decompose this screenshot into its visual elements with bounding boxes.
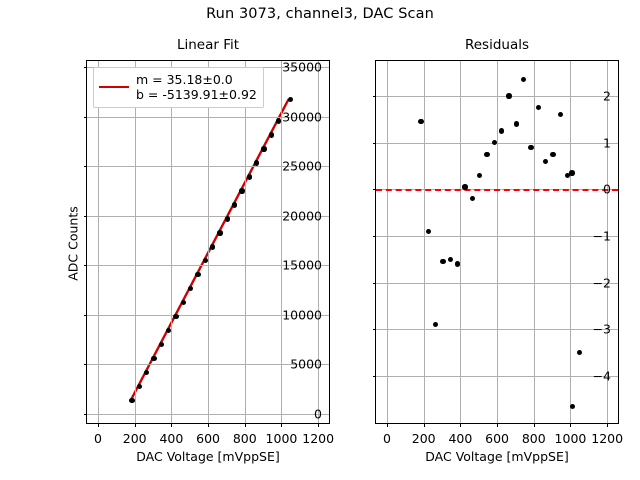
y-axis-tick bbox=[84, 315, 88, 316]
x-axis-tick-label: 200 bbox=[123, 431, 147, 446]
x-axis-tick bbox=[318, 423, 319, 427]
y-axis-tick-label: 25000 bbox=[282, 159, 322, 174]
x-axis-tick-label: 1000 bbox=[555, 431, 587, 446]
y-axis-tick-label: −1 bbox=[593, 229, 611, 244]
data-point-marker bbox=[269, 132, 274, 137]
gridline-horizontal bbox=[376, 236, 618, 237]
x-axis-tick bbox=[208, 423, 209, 427]
gridline-horizontal bbox=[87, 414, 329, 415]
x-axis-tick bbox=[281, 423, 282, 427]
y-axis-tick bbox=[84, 414, 88, 415]
data-point-marker bbox=[577, 350, 582, 355]
data-point-marker bbox=[210, 244, 215, 249]
data-point-marker bbox=[225, 216, 230, 221]
x-axis-tick bbox=[245, 423, 246, 427]
axes-residuals: Residuals DAC Voltage [mVppSE] 020040060… bbox=[375, 60, 619, 424]
x-axis-tick bbox=[497, 423, 498, 427]
data-point-marker bbox=[455, 261, 460, 266]
y-axis-tick-label: 0 bbox=[314, 407, 322, 422]
ylabel-linear-fit: ADC Counts bbox=[66, 62, 81, 426]
x-axis-tick bbox=[387, 423, 388, 427]
x-axis-tick-label: 200 bbox=[412, 431, 436, 446]
x-axis-tick bbox=[570, 423, 571, 427]
y-axis-tick bbox=[373, 189, 377, 190]
y-axis-tick bbox=[84, 216, 88, 217]
data-point-marker bbox=[418, 119, 423, 124]
data-point-marker bbox=[151, 356, 156, 361]
gridline-vertical bbox=[135, 61, 136, 423]
y-axis-tick-label: 30000 bbox=[282, 109, 322, 124]
data-point-marker bbox=[433, 322, 438, 327]
x-axis-tick-label: 800 bbox=[233, 431, 257, 446]
figure-canvas: Run 3073, channel3, DAC Scan Linear Fit … bbox=[0, 0, 640, 480]
data-point-marker bbox=[514, 121, 519, 126]
y-axis-tick bbox=[373, 236, 377, 237]
data-point-marker bbox=[440, 259, 445, 264]
data-point-marker bbox=[470, 196, 475, 201]
y-axis-tick-label: 5000 bbox=[290, 357, 322, 372]
data-point-marker bbox=[528, 145, 533, 150]
data-point-marker bbox=[448, 257, 453, 262]
data-point-marker bbox=[558, 112, 563, 117]
gridline-vertical bbox=[534, 61, 535, 423]
xlabel-residuals: DAC Voltage [mVppSE] bbox=[376, 449, 618, 464]
data-point-marker bbox=[506, 93, 511, 98]
y-axis-tick bbox=[84, 117, 88, 118]
figure-suptitle: Run 3073, channel3, DAC Scan bbox=[0, 6, 640, 22]
data-point-marker bbox=[426, 229, 431, 234]
data-point-marker bbox=[570, 404, 575, 409]
x-axis-tick bbox=[460, 423, 461, 427]
x-axis-tick bbox=[424, 423, 425, 427]
gridline-horizontal bbox=[376, 376, 618, 377]
data-point-marker bbox=[217, 230, 222, 235]
y-axis-tick bbox=[84, 166, 88, 167]
x-axis-tick-label: 800 bbox=[522, 431, 546, 446]
data-point-marker bbox=[543, 159, 548, 164]
data-point-marker bbox=[239, 188, 244, 193]
gridline-horizontal bbox=[376, 283, 618, 284]
y-axis-tick-label: 35000 bbox=[282, 59, 322, 74]
y-axis-tick bbox=[84, 265, 88, 266]
data-point-marker bbox=[254, 160, 259, 165]
gridline-vertical bbox=[424, 61, 425, 423]
x-axis-tick bbox=[135, 423, 136, 427]
legend-text-group: m = 35.18±0.0 b = -5139.91±0.92 bbox=[136, 72, 257, 103]
x-axis-tick-label: 600 bbox=[485, 431, 509, 446]
data-point-marker bbox=[484, 152, 489, 157]
y-axis-tick-label: −2 bbox=[593, 275, 611, 290]
x-axis-tick-label: 600 bbox=[196, 431, 220, 446]
y-axis-tick-label: 15000 bbox=[282, 258, 322, 273]
gridline-vertical bbox=[208, 61, 209, 423]
y-axis-tick bbox=[84, 364, 88, 365]
subplot-title-residuals: Residuals bbox=[376, 37, 618, 53]
gridline-vertical bbox=[171, 61, 172, 423]
data-point-marker bbox=[536, 105, 541, 110]
y-axis-tick-label: −4 bbox=[593, 369, 611, 384]
x-axis-tick bbox=[98, 423, 99, 427]
data-point-marker bbox=[288, 97, 293, 102]
legend-intercept-label: b = -5139.91±0.92 bbox=[136, 87, 257, 102]
subplot-title-linear-fit: Linear Fit bbox=[87, 37, 329, 53]
x-axis-tick-label: 400 bbox=[159, 431, 183, 446]
y-axis-tick-label: 2 bbox=[603, 89, 611, 104]
y-axis-tick bbox=[373, 96, 377, 97]
y-axis-tick bbox=[84, 67, 88, 68]
x-axis-tick-label: 1200 bbox=[591, 431, 623, 446]
gridline-vertical bbox=[98, 61, 99, 423]
y-axis-tick bbox=[373, 329, 377, 330]
y-axis-tick bbox=[373, 376, 377, 377]
gridline-horizontal bbox=[376, 329, 618, 330]
x-axis-tick bbox=[607, 423, 608, 427]
gridline-vertical bbox=[245, 61, 246, 423]
x-axis-tick-label: 0 bbox=[383, 431, 391, 446]
data-point-marker bbox=[550, 152, 555, 157]
gridline-vertical bbox=[460, 61, 461, 423]
x-axis-tick-label: 1000 bbox=[266, 431, 298, 446]
data-point-marker bbox=[232, 202, 237, 207]
gridline-vertical bbox=[497, 61, 498, 423]
data-point-marker bbox=[477, 173, 482, 178]
y-axis-tick-label: 20000 bbox=[282, 208, 322, 223]
legend-box: m = 35.18±0.0 b = -5139.91±0.92 bbox=[93, 67, 264, 108]
y-axis-tick-label: −3 bbox=[593, 322, 611, 337]
plot-area-residuals bbox=[376, 61, 618, 423]
data-point-marker bbox=[499, 128, 504, 133]
data-point-marker bbox=[261, 146, 266, 151]
axes-linear-fit: Linear Fit m = 35.18±0.0 b = -5139.91±0.… bbox=[86, 60, 330, 424]
y-axis-tick-label: 10000 bbox=[282, 307, 322, 322]
x-axis-tick bbox=[534, 423, 535, 427]
y-axis-tick-label: 1 bbox=[603, 135, 611, 150]
x-axis-tick bbox=[171, 423, 172, 427]
gridline-horizontal bbox=[376, 143, 618, 144]
data-point-marker bbox=[462, 184, 467, 189]
gridline-horizontal bbox=[376, 96, 618, 97]
legend-line-swatch bbox=[99, 86, 129, 88]
xlabel-linear-fit: DAC Voltage [mVppSE] bbox=[87, 449, 329, 464]
legend-slope-label: m = 35.18±0.0 bbox=[136, 72, 257, 87]
data-point-marker bbox=[247, 174, 252, 179]
y-axis-tick bbox=[373, 143, 377, 144]
y-axis-tick-label: 0 bbox=[603, 182, 611, 197]
zero-reference-line bbox=[376, 189, 618, 191]
data-point-marker bbox=[129, 398, 134, 403]
y-axis-tick bbox=[373, 283, 377, 284]
data-point-marker bbox=[173, 314, 178, 319]
data-point-marker bbox=[521, 77, 526, 82]
x-axis-tick-label: 400 bbox=[448, 431, 472, 446]
data-point-marker bbox=[569, 170, 574, 175]
gridline-vertical bbox=[387, 61, 388, 423]
gridline-vertical bbox=[570, 61, 571, 423]
x-axis-tick-label: 1200 bbox=[302, 431, 334, 446]
x-axis-tick-label: 0 bbox=[94, 431, 102, 446]
